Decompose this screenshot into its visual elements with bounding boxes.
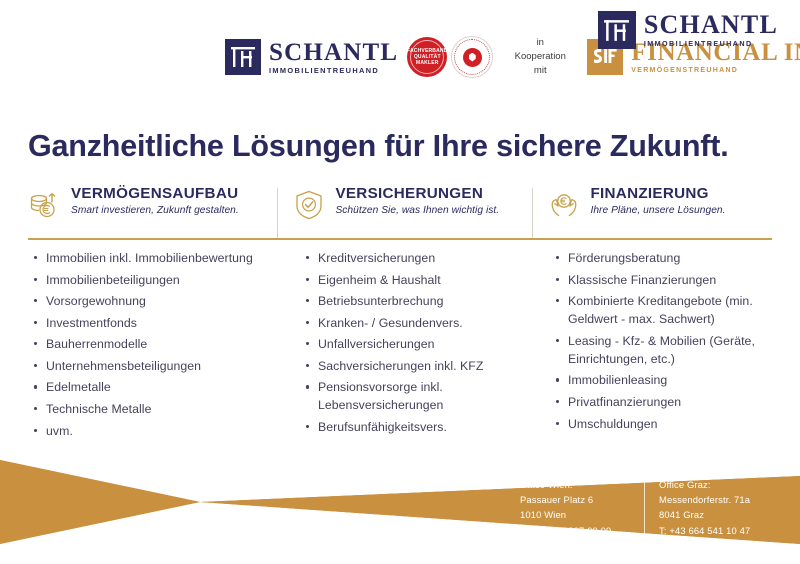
office-wien-block: Office Wien: Passauer Platz 6 1010 Wien … (520, 477, 644, 553)
bullet-list: KreditversicherungenEigenheim & Haushalt… (300, 249, 550, 458)
list-item: Pensionsvorsorge inkl. Lebensversicherun… (318, 378, 550, 414)
list-item: Bauherrenmodelle (46, 335, 300, 353)
list-item: Immobilien inkl. Immobilienbewertung (46, 249, 300, 267)
cooperation-line-1: in (511, 36, 569, 50)
column-title: VERSICHERUNGEN (335, 186, 499, 202)
schantl-wordmark: SCHANTL (269, 40, 398, 65)
office-phone[interactable]: T: +43 664 541 10 47 (659, 523, 799, 538)
list-item: uvm. (46, 422, 300, 440)
list-item: Immobilienbeteiligungen (46, 271, 300, 289)
column-subtitle: Ihre Pläne, unsere Lösungen. (590, 205, 725, 216)
schantl-tagline: IMMOBILIENTREUHAND (269, 67, 398, 74)
list-item: Förderungsberatung (568, 249, 772, 267)
office-title: Office Wien: (520, 477, 644, 492)
shield-check-icon (292, 188, 326, 222)
list-item: Eigenheim & Haushalt (318, 271, 550, 289)
list-item: Klassische Finanzierungen (568, 271, 772, 289)
office-city: 1010 Wien (520, 507, 644, 522)
service-column-finanzierung: FINANZIERUNG Ihre Pläne, unsere Lösungen… (547, 186, 772, 240)
list-item: Unfallversicherungen (318, 335, 550, 353)
seal-line-1: FACHVERBAND (407, 48, 448, 54)
gold-horizontal-rule (28, 238, 772, 240)
list-item: Edelmetalle (46, 378, 300, 396)
list-item: Sachversicherungen inkl. KFZ (318, 357, 550, 375)
certification-seals: FACHVERBAND QUALITÄT MAKLER (407, 36, 493, 78)
seal-line-3: MAKLER (416, 60, 439, 66)
seal-line-2: QUALITÄT (414, 54, 441, 60)
column-subtitle: Schützen Sie, was Ihnen wichtig ist. (335, 205, 499, 216)
cooperation-label: in Kooperation mit (511, 36, 569, 77)
list-item: Vorsorgewohnung (46, 292, 300, 310)
list-column-versicherungen: KreditversicherungenEigenheim & Haushalt… (300, 249, 550, 461)
column-divider-1 (277, 188, 278, 240)
office-street: Messendorferstr. 71a (659, 492, 799, 507)
list-item: Umschuldungen (568, 415, 772, 433)
hands-holding-euro-icon (547, 188, 581, 222)
office-street: Passauer Platz 6 (520, 492, 644, 507)
bullet-list: Immobilien inkl. ImmobilienbewertungImmo… (28, 249, 300, 440)
bullet-list: FörderungsberatungKlassische Finanzierun… (550, 249, 772, 454)
service-column-versicherungen: VERSICHERUNGEN Schützen Sie, was Ihnen w… (292, 186, 526, 240)
cooperation-line-3: mit (511, 64, 569, 78)
service-lists: Immobilien inkl. ImmobilienbewertungImmo… (28, 249, 772, 461)
list-item: Kreditversicherungen (318, 249, 550, 267)
ith-monogram-icon (225, 39, 261, 75)
office-email[interactable]: E: office@sfi-invest.com (520, 538, 644, 553)
list-item: Unternehmensbeteiligungen (46, 357, 300, 375)
list-item: Leasing - Kfz- & Mobilien (Geräte, Einri… (568, 332, 772, 368)
column-subtitle: Smart investieren, Zukunft gestalten. (71, 205, 239, 216)
column-title: VERMÖGENSAUFBAU (71, 186, 239, 202)
list-item: Investmentfonds (46, 314, 300, 332)
service-column-headers: VERMÖGENSAUFBAU Smart investieren, Zukun… (28, 186, 772, 240)
cooperation-line-2: Kooperation (511, 50, 569, 64)
list-item: Betriebsunterbrechung (318, 292, 550, 310)
schantl-ith-logo: SCHANTL IMMOBILIENTREUHAND (225, 39, 398, 75)
column-title: FINANZIERUNG (590, 186, 725, 202)
list-item: Kombinierte Kreditangebote (min. Geldwer… (568, 292, 772, 328)
column-divider-2 (532, 188, 533, 240)
service-column-vermoegensaufbau: VERMÖGENSAUFBAU Smart investieren, Zukun… (28, 186, 271, 240)
list-item: Immobilienleasing (568, 371, 772, 389)
list-column-finanzierung: FörderungsberatungKlassische Finanzierun… (550, 249, 772, 461)
schantl-wordmark-top-right: SCHANTL (644, 12, 778, 38)
flyer-page: SCHANTL IMMOBILIENTREUHAND FACHVERBAND Q… (0, 0, 800, 564)
schantl-ith-logo-top-right: SCHANTL IMMOBILIENTREUHAND (598, 11, 778, 49)
office-graz-block: Office Graz: Messendorferstr. 71a 8041 G… (645, 477, 799, 553)
footer-contacts: Office Wien: Passauer Platz 6 1010 Wien … (520, 477, 799, 553)
ith-monogram-icon-top-right (598, 11, 636, 49)
office-email[interactable]: E: office@schantl-ith.at (659, 538, 799, 553)
list-item: Berufsunfähigkeitsvers. (318, 418, 550, 436)
list-column-vermoegensaufbau: Immobilien inkl. ImmobilienbewertungImmo… (28, 249, 300, 461)
office-title: Office Graz: (659, 477, 799, 492)
financial-invest-tagline: VERMÖGENSTREUHAND (631, 67, 800, 74)
logo-bar: SCHANTL IMMOBILIENTREUHAND FACHVERBAND Q… (0, 0, 800, 110)
office-phone[interactable]: T: +43 664 307 00 09 (520, 523, 644, 538)
office-city: 8041 Graz (659, 507, 799, 522)
list-item: Privatfinanzierungen (568, 393, 772, 411)
schantl-tagline-top-right: IMMOBILIENTREUHAND (644, 40, 778, 47)
page-headline: Ganzheitliche Lösungen für Ihre sichere … (28, 129, 728, 164)
coins-arrow-euro-icon (28, 188, 62, 222)
qualitaets-makler-seal-icon: FACHVERBAND QUALITÄT MAKLER (407, 37, 447, 77)
list-item: Technische Metalle (46, 400, 300, 418)
list-item: Kranken- / Gesundenvers. (318, 314, 550, 332)
austrian-crest-seal-icon (451, 36, 493, 78)
